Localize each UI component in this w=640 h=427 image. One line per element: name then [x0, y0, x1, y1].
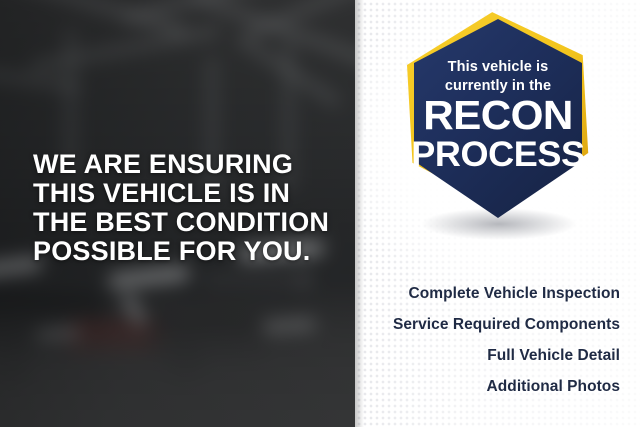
checklist-item-service-required-components: Service Required Components	[370, 309, 620, 340]
headline-line-3: THE BEST CONDITION	[33, 208, 333, 237]
recon-process-banner: WE ARE ENSURING THIS VEHICLE IS IN THE B…	[0, 0, 640, 427]
recon-checklist: Complete Vehicle Inspection Service Requ…	[370, 278, 620, 402]
headline: WE ARE ENSURING THIS VEHICLE IS IN THE B…	[33, 150, 333, 266]
recon-process-badge: This vehicle is currently in the RECON P…	[393, 6, 603, 254]
checklist-item-additional-photos: Additional Photos	[370, 371, 620, 402]
right-content-panel: This vehicle is currently in the RECON P…	[355, 0, 640, 427]
left-photo-panel: WE ARE ENSURING THIS VEHICLE IS IN THE B…	[0, 0, 355, 427]
panel-edge-shadow	[355, 0, 364, 427]
checklist-item-complete-vehicle-inspection: Complete Vehicle Inspection	[370, 278, 620, 309]
headline-line-4: POSSIBLE FOR YOU.	[33, 237, 333, 266]
checklist-item-full-vehicle-detail: Full Vehicle Detail	[370, 340, 620, 371]
headline-line-2: THIS VEHICLE IS IN	[33, 179, 333, 208]
headline-line-1: WE ARE ENSURING	[33, 150, 333, 179]
